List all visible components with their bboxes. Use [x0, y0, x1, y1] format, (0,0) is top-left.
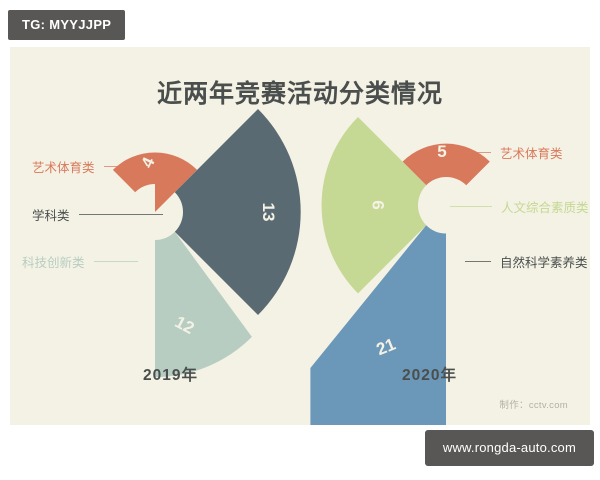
credit-text: 制作：cctv.com — [499, 397, 568, 411]
year-label-2020: 2020年 — [402, 363, 457, 385]
leader-line-2020-humanities — [450, 206, 492, 207]
legend-text-2019-subjects: 学科类 — [32, 205, 70, 224]
legend-label-2019-art-sports: 艺术体育类 — [32, 157, 148, 176]
tg-watermark-badge: TG: MYYJJPP — [8, 10, 125, 40]
legend-text-2019-tech-innovation: 科技创新类 — [22, 252, 85, 271]
year-label-2019: 2019年 — [143, 363, 198, 385]
slice-value-2019-subjects: 13 — [259, 203, 278, 222]
legend-label-2019-subjects: 学科类 — [32, 205, 163, 224]
infographic-card: 近两年竞赛活动分类情况 4 13 12 5 9 21 艺术体育类 学科类 — [10, 47, 590, 425]
leader-line-2020-natural-science — [465, 261, 491, 262]
slice-2019-subjects — [175, 109, 301, 315]
legend-label-2019-tech-innovation: 科技创新类 — [22, 252, 138, 271]
leader-line-2020-art-sports — [465, 152, 491, 153]
legend-label-2020-art-sports: 艺术体育类 — [465, 143, 563, 162]
slice-2020-natural-science — [310, 225, 446, 425]
leader-line-2019-subjects — [79, 214, 163, 215]
leader-line-2019-art-sports — [104, 166, 148, 167]
leader-line-2019-tech-innovation — [94, 261, 138, 262]
slice-value-2020-humanities: 9 — [369, 200, 388, 209]
page-title: 近两年竞赛活动分类情况 — [10, 74, 590, 110]
legend-text-2019-art-sports: 艺术体育类 — [32, 157, 95, 176]
slice-2020-humanities — [322, 117, 427, 293]
slice-value-2020-art-sports: 5 — [437, 142, 446, 161]
legend-text-2020-natural-science: 自然科学素养类 — [500, 252, 588, 271]
legend-text-2020-humanities: 人文综合素质类 — [501, 197, 589, 216]
site-watermark-badge[interactable]: www.rongda-auto.com — [425, 430, 594, 466]
legend-text-2020-art-sports: 艺术体育类 — [500, 143, 563, 162]
slice-value-2019-tech-innovation: 12 — [172, 312, 198, 338]
legend-label-2020-natural-science: 自然科学素养类 — [465, 252, 588, 271]
legend-label-2020-humanities: 人文综合素质类 — [450, 197, 589, 216]
slice-value-2020-natural-science: 21 — [374, 335, 399, 360]
slice-2019-tech-innovation — [155, 232, 252, 377]
